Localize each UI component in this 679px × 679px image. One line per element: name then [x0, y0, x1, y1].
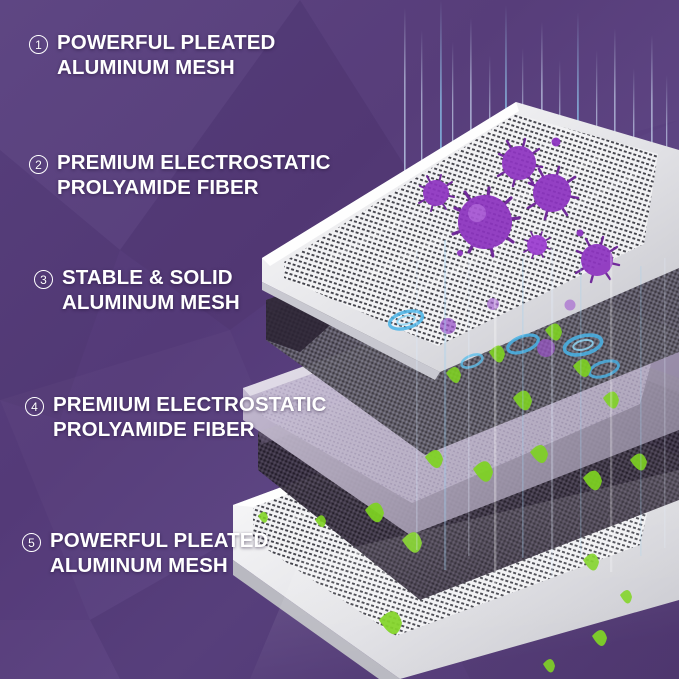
layer-number-1: 1: [29, 35, 48, 54]
layer-label-1: 1 POWERFUL PLEATED ALUMINUM MESH: [29, 31, 275, 80]
layer-text-4: PREMIUM ELECTROSTATIC PROLYAMIDE FIBER: [53, 393, 327, 442]
layer-label-4: 4 PREMIUM ELECTROSTATIC PROLYAMIDE FIBER: [25, 393, 327, 442]
layer-text-3: STABLE & SOLID ALUMINUM MESH: [62, 266, 240, 315]
layer-label-2: 2 PREMIUM ELECTROSTATIC PROLYAMIDE FIBER: [29, 151, 331, 200]
layer-text-2: PREMIUM ELECTROSTATIC PROLYAMIDE FIBER: [57, 151, 331, 200]
infographic-canvas: 1 POWERFUL PLEATED ALUMINUM MESH 2 PREMI…: [0, 0, 679, 679]
layer-number-4: 4: [25, 397, 44, 416]
layer-number-2: 2: [29, 155, 48, 174]
layer-label-list: 1 POWERFUL PLEATED ALUMINUM MESH 2 PREMI…: [0, 0, 679, 679]
layer-text-1: POWERFUL PLEATED ALUMINUM MESH: [57, 31, 275, 80]
layer-label-3: 3 STABLE & SOLID ALUMINUM MESH: [34, 266, 240, 315]
layer-text-5: POWERFUL PLEATED ALUMINUM MESH: [50, 529, 268, 578]
layer-label-5: 5 POWERFUL PLEATED ALUMINUM MESH: [22, 529, 268, 578]
layer-number-5: 5: [22, 533, 41, 552]
layer-number-3: 3: [34, 270, 53, 289]
